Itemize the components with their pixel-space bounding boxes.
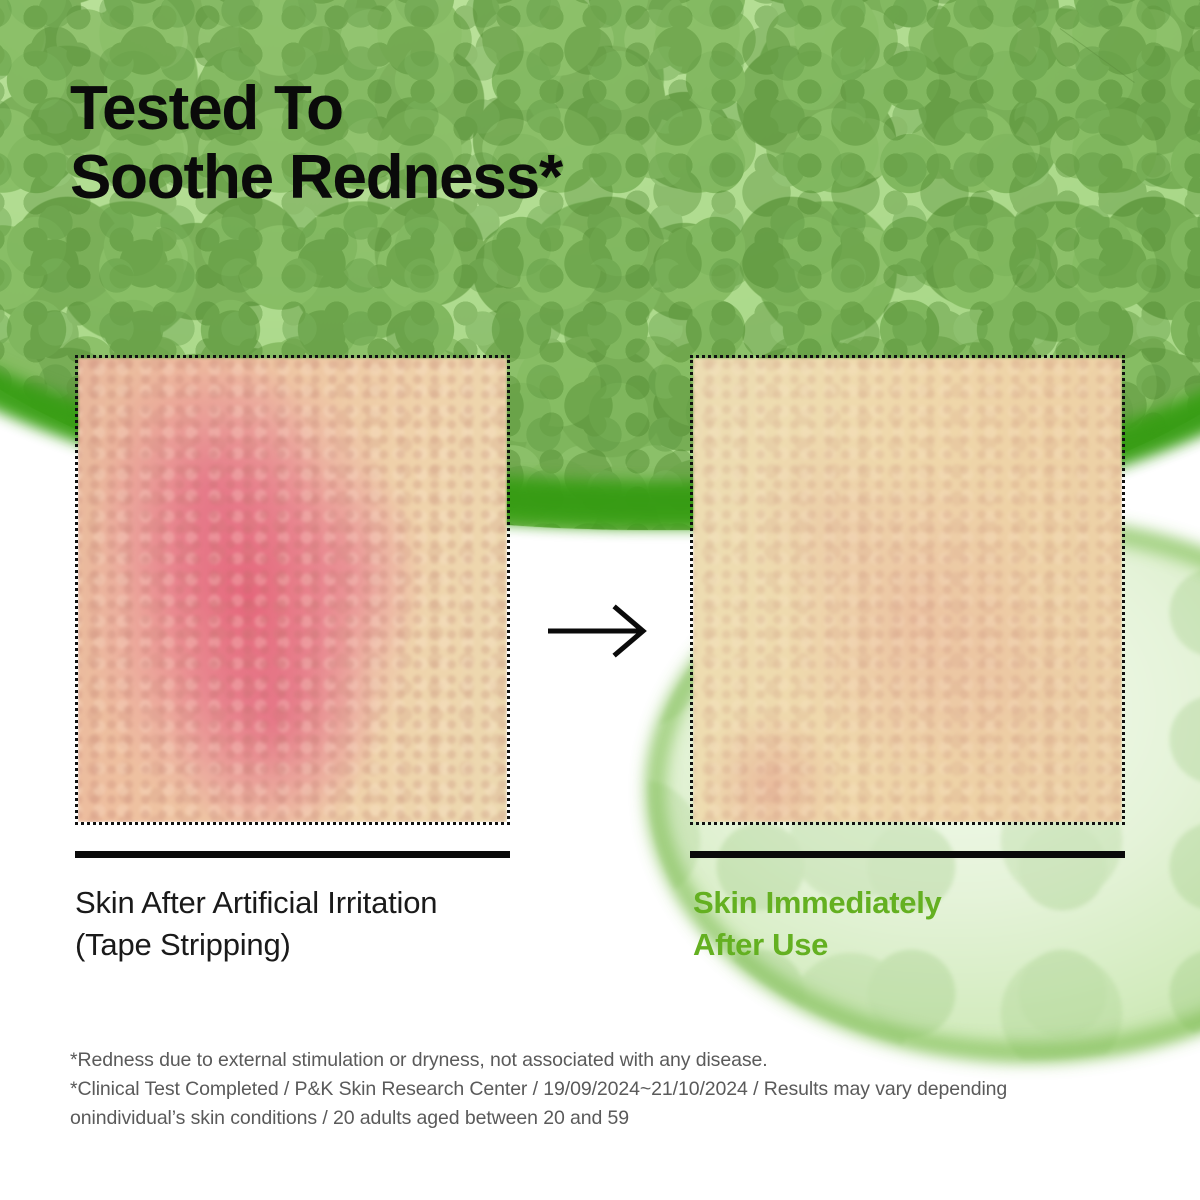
- skin-texture-overlay: [690, 355, 1125, 825]
- page-title: Tested To Soothe Redness*: [70, 74, 562, 213]
- disclaimer-text: *Redness due to external stimulation or …: [70, 1046, 1140, 1133]
- after-caption: Skin Immediately After Use: [693, 882, 941, 966]
- after-caption-rule: [690, 851, 1125, 858]
- before-caption-rule: [75, 851, 510, 858]
- before-photo: [75, 355, 510, 825]
- arrow-right-icon: [546, 604, 650, 658]
- before-caption: Skin After Artificial Irritation (Tape S…: [75, 882, 437, 966]
- product-claim-poster: Tested To Soothe Redness* Skin After Art…: [0, 0, 1200, 1200]
- skin-texture-overlay: [75, 355, 510, 825]
- after-photo: [690, 355, 1125, 825]
